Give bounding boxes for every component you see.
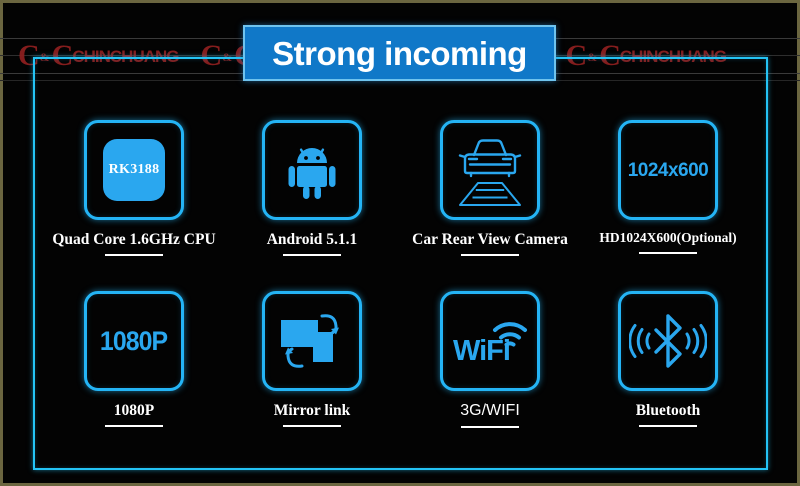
feature-cell-bluetooth[interactable]: Bluetooth [579,291,757,450]
watermark-c-right: C [52,41,72,71]
android-robot-icon [281,139,343,201]
video-1080p-icon: 1080P [100,328,167,355]
watermark-ampersand: & [40,50,50,65]
feature-label-cpu: Quad Core 1.6GHz CPU [52,231,215,248]
feature-label-mirror-link: Mirror link [274,402,351,419]
cpu-icon-box: RK3188 [84,120,184,220]
mirror-link-icon-box [262,291,362,391]
mirror-link-icon [275,306,349,376]
cpu-chip-icon: RK3188 [103,139,165,201]
page-title: Strong incoming [272,37,527,70]
label-underline [105,254,163,256]
feature-cell-wifi[interactable]: WiFi 3G/WIFI [401,291,579,450]
feature-row-1: RK3188 Quad Core 1.6GHz CPU [45,120,757,279]
watermark-c-left: C [18,41,38,71]
feature-label-bluetooth: Bluetooth [636,402,701,419]
feature-label-android: Android 5.1.1 [267,231,358,248]
resolution-icon-box: 1024x600 [618,120,718,220]
label-underline [283,254,341,256]
android-icon-box [262,120,362,220]
bluetooth-icon [629,310,707,372]
watermark-logo: C & C CHINCHUANG [18,41,179,71]
watermark-brand-name: CHINCHUANG [72,47,178,67]
wifi-icon-box: WiFi [440,291,540,391]
feature-cell-android[interactable]: Android 5.1.1 [223,120,401,279]
feature-cell-1080p[interactable]: 1080P 1080P [45,291,223,450]
feature-cell-mirror-link[interactable]: Mirror link [223,291,401,450]
feature-cell-cpu[interactable]: RK3188 Quad Core 1.6GHz CPU [45,120,223,279]
video-1080p-icon-box: 1080P [84,291,184,391]
watermark-c-left: C [566,41,586,71]
rear-camera-icon-box [440,120,540,220]
watermark-logo: C & C CHINCHUANG [566,41,727,71]
bluetooth-icon-box [618,291,718,391]
screen-resolution-icon: 1024x600 [628,161,709,180]
wifi-icon: WiFi [449,310,531,372]
watermark-c-left: C [201,41,221,71]
feature-cell-rear-camera[interactable]: Car Rear View Camera [401,120,579,279]
feature-label-resolution: HD1024X600(Optional) [599,231,736,246]
feature-grid: RK3188 Quad Core 1.6GHz CPU [45,120,757,450]
cpu-chip-label: RK3188 [109,162,160,178]
car-rear-view-camera-icon [450,131,530,209]
feature-cell-resolution[interactable]: 1024x600 HD1024X600(Optional) [579,120,757,279]
svg-text:WiFi: WiFi [453,335,510,367]
watermark-ampersand: & [587,50,597,65]
label-underline [283,425,341,427]
watermark-ampersand: & [222,50,232,65]
label-underline [639,252,697,254]
feature-label-wifi: 3G/WIFI [460,402,520,420]
label-underline [639,425,697,427]
feature-label-rear-camera: Car Rear View Camera [412,231,568,248]
label-underline [461,254,519,256]
label-underline [105,425,163,427]
label-underline [461,426,519,428]
feature-row-2: 1080P 1080P [45,291,757,450]
title-banner: Strong incoming [243,25,556,81]
watermark-c-right: C [599,41,619,71]
feature-label-1080p: 1080P [114,402,154,419]
watermark-brand-name: CHINCHUANG [620,47,726,67]
product-feature-poster: C & C CHINCHUANG C & C CHINCHUANG C & C … [0,0,800,486]
